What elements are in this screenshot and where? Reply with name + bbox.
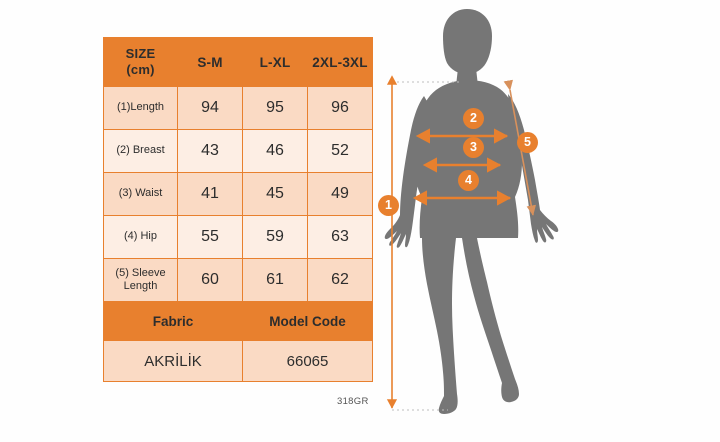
table-row-length: (1)Length 94 95 96 (104, 87, 373, 130)
cell-hip-2xl-3xl: 63 (308, 216, 373, 259)
row-label-hip: (4) Hip (104, 216, 178, 259)
female-body-silhouette-diagram (370, 0, 720, 442)
header-size-line2: (cm) (104, 62, 177, 78)
measurement-badge-4: 4 (458, 170, 479, 191)
cell-length-2xl-3xl: 96 (308, 87, 373, 130)
table-row-breast: (2) Breast 43 46 52 (104, 130, 373, 173)
header-column-l-xl: L-XL (243, 38, 308, 87)
garment-weight-code: 318GR (337, 396, 369, 407)
cell-sleeve-l-xl: 61 (243, 259, 308, 302)
cell-sleeve-2xl-3xl: 62 (308, 259, 373, 302)
cell-breast-l-xl: 46 (243, 130, 308, 173)
cell-sleeve-s-m: 60 (178, 259, 243, 302)
cell-waist-l-xl: 45 (243, 173, 308, 216)
cell-waist-s-m: 41 (178, 173, 243, 216)
row-label-breast: (2) Breast (104, 130, 178, 173)
measurement-figure-panel: 1 2 3 4 5 (370, 0, 720, 442)
row-label-sleeve-line2: Length (104, 280, 177, 293)
cell-fabric-value: AKRİLİK (104, 341, 243, 382)
table-row-sleeve-length: (5) Sleeve Length 60 61 62 (104, 259, 373, 302)
table-row-waist: (3) Waist 41 45 49 (104, 173, 373, 216)
header-column-s-m: S-M (178, 38, 243, 87)
row-label-length: (1)Length (104, 87, 178, 130)
header-size-line1: SIZE (104, 46, 177, 62)
measurement-badge-5: 5 (517, 132, 538, 153)
header-column-2xl-3xl: 2XL-3XL (308, 38, 373, 87)
cell-length-l-xl: 95 (243, 87, 308, 130)
table-footer-value-row: AKRİLİK 66065 (104, 341, 373, 382)
row-label-sleeve-line1: (5) Sleeve (104, 267, 177, 280)
measurement-badge-3: 3 (463, 137, 484, 158)
cell-breast-s-m: 43 (178, 130, 243, 173)
cell-waist-2xl-3xl: 49 (308, 173, 373, 216)
size-chart-table: SIZE (cm) S-M L-XL 2XL-3XL (1)Length 94 … (103, 37, 373, 382)
table-row-hip: (4) Hip 55 59 63 (104, 216, 373, 259)
header-size-cell: SIZE (cm) (104, 38, 178, 87)
cell-hip-s-m: 55 (178, 216, 243, 259)
measurement-badge-2: 2 (463, 108, 484, 129)
table-footer-header-row: Fabric Model Code (104, 302, 373, 341)
row-label-sleeve-length: (5) Sleeve Length (104, 259, 178, 302)
header-model-code: Model Code (243, 302, 373, 341)
measurement-badge-1: 1 (378, 195, 399, 216)
cell-hip-l-xl: 59 (243, 216, 308, 259)
cell-length-s-m: 94 (178, 87, 243, 130)
cell-model-code-value: 66065 (243, 341, 373, 382)
cell-breast-2xl-3xl: 52 (308, 130, 373, 173)
header-fabric: Fabric (104, 302, 243, 341)
table-header-row: SIZE (cm) S-M L-XL 2XL-3XL (104, 38, 373, 87)
row-label-waist: (3) Waist (104, 173, 178, 216)
